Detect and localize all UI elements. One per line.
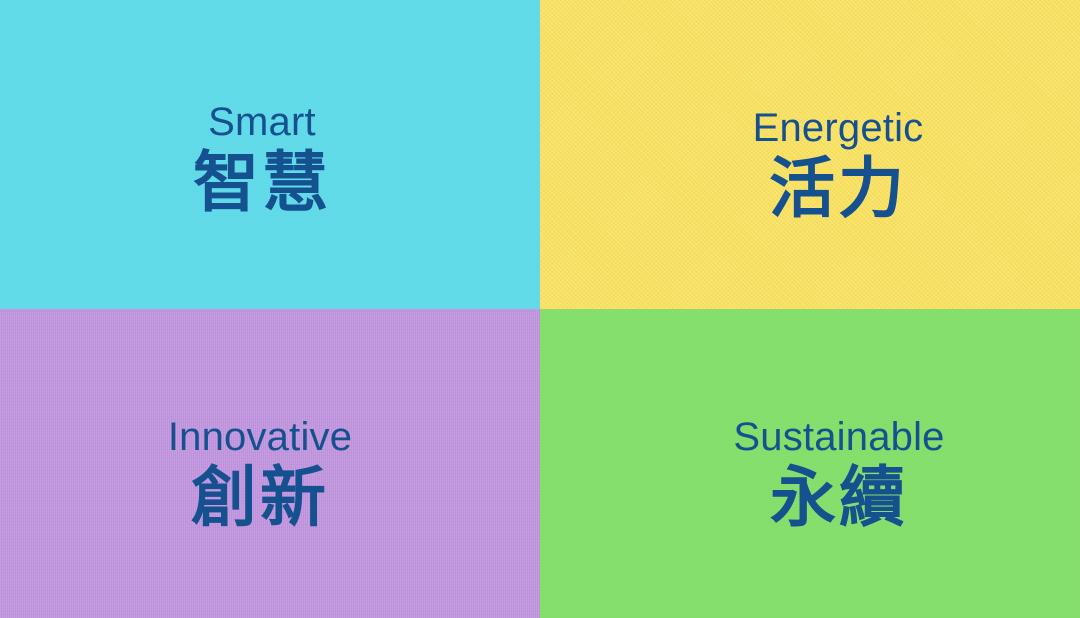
value-quadrant-board: Smart 智慧 Energetic 活力 Innovative 創新 Sust… <box>0 0 1080 618</box>
quadrant-energetic-english-label: Energetic <box>753 108 924 148</box>
quadrant-innovative-chinese-label: 創新 <box>191 461 329 535</box>
quadrant-smart[interactable]: Smart 智慧 <box>0 0 540 309</box>
quadrant-smart-content: Smart 智慧 <box>193 102 331 220</box>
quadrant-sustainable[interactable]: Sustainable 永續 <box>540 309 1080 618</box>
quadrant-innovative-content: Innovative 創新 <box>168 417 352 535</box>
quadrant-sustainable-content: Sustainable 永續 <box>733 417 944 535</box>
quadrant-sustainable-chinese-label: 永續 <box>770 461 908 535</box>
quadrant-innovative[interactable]: Innovative 創新 <box>0 309 540 618</box>
quadrant-energetic[interactable]: Energetic 活力 <box>540 0 1080 309</box>
quadrant-smart-english-label: Smart <box>208 102 316 142</box>
quadrant-sustainable-english-label: Sustainable <box>733 417 944 457</box>
quadrant-smart-chinese-label: 智慧 <box>193 146 331 220</box>
quadrant-innovative-english-label: Innovative <box>168 417 352 457</box>
quadrant-energetic-chinese-label: 活力 <box>769 152 907 226</box>
quadrant-energetic-content: Energetic 活力 <box>753 108 924 226</box>
